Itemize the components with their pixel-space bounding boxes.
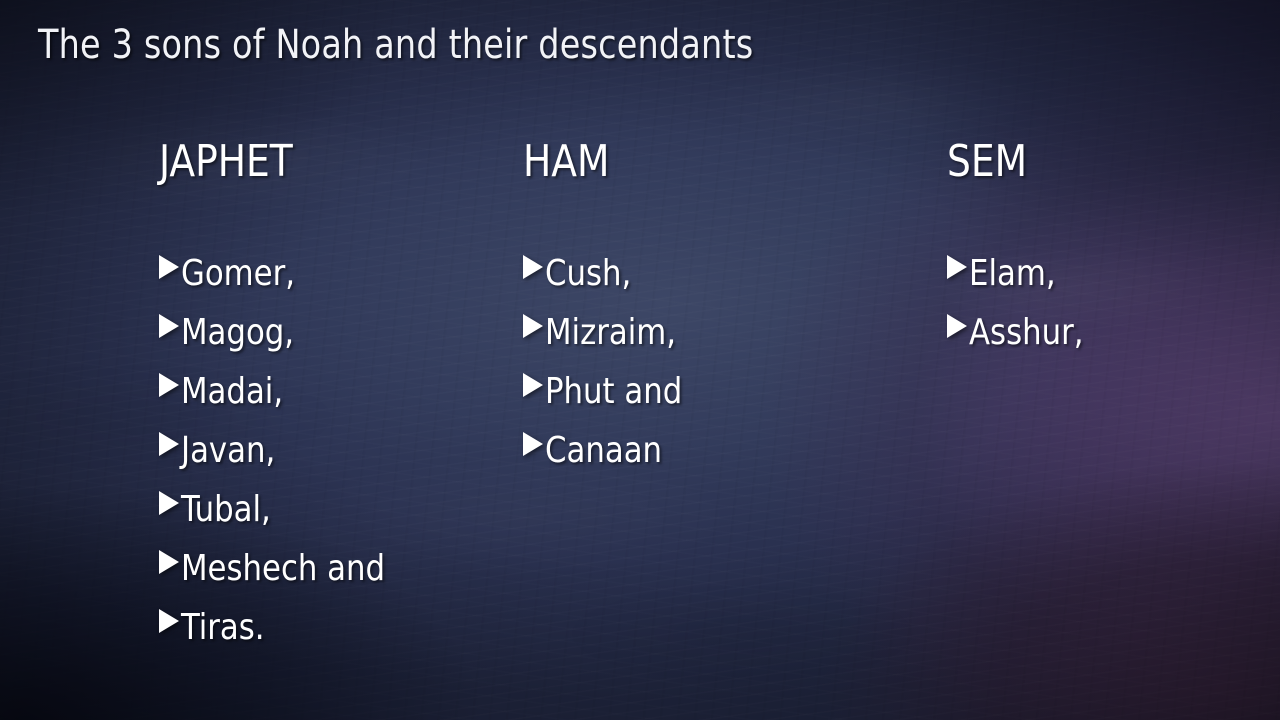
bullet-list-ham: Cush, Mizraim, Phut and Canaan — [523, 244, 690, 480]
triangle-right-icon — [523, 373, 543, 397]
triangle-right-icon — [947, 255, 967, 279]
triangle-right-icon — [159, 432, 179, 456]
list-item: Madai, — [159, 362, 396, 421]
column-ham: HAM Cush, Mizraim, Phut and Canaan — [523, 136, 690, 480]
list-item: Asshur, — [947, 303, 1090, 362]
list-item-label: Meshech and — [181, 539, 385, 598]
triangle-right-icon — [523, 432, 543, 456]
triangle-right-icon — [159, 255, 179, 279]
list-item-label: Magog, — [181, 303, 294, 362]
triangle-right-icon — [523, 255, 543, 279]
list-item-label: Canaan — [545, 421, 662, 480]
column-heading-sem: SEM — [947, 136, 1082, 188]
list-item-label: Elam, — [969, 244, 1056, 303]
column-japhet: JAPHET Gomer, Magog, Madai, Javan, — [159, 136, 396, 657]
list-item: Meshech and — [159, 539, 396, 598]
triangle-right-icon — [159, 491, 179, 515]
triangle-right-icon — [523, 314, 543, 338]
list-item: Gomer, — [159, 244, 396, 303]
content-columns: JAPHET Gomer, Magog, Madai, Javan, — [0, 0, 1280, 720]
column-sem: SEM Elam, Asshur, — [947, 136, 1090, 362]
list-item-label: Mizraim, — [545, 303, 676, 362]
list-item: Magog, — [159, 303, 396, 362]
presentation-slide: The 3 sons of Noah and their descendants… — [0, 0, 1280, 720]
list-item-label: Cush, — [545, 244, 631, 303]
bullet-list-sem: Elam, Asshur, — [947, 244, 1090, 362]
list-item-label: Tubal, — [181, 480, 271, 539]
triangle-right-icon — [159, 609, 179, 633]
triangle-right-icon — [947, 314, 967, 338]
list-item: Phut and — [523, 362, 690, 421]
list-item-label: Tiras. — [181, 598, 265, 657]
triangle-right-icon — [159, 373, 179, 397]
list-item-label: Javan, — [181, 421, 275, 480]
list-item-label: Phut and — [545, 362, 682, 421]
bullet-list-japhet: Gomer, Magog, Madai, Javan, Tubal, — [159, 244, 396, 657]
list-item: Tubal, — [159, 480, 396, 539]
list-item: Javan, — [159, 421, 396, 480]
triangle-right-icon — [159, 550, 179, 574]
column-heading-ham: HAM — [523, 136, 681, 188]
list-item-label: Madai, — [181, 362, 283, 421]
column-heading-japhet: JAPHET — [159, 136, 384, 188]
list-item-label: Gomer, — [181, 244, 295, 303]
list-item: Tiras. — [159, 598, 396, 657]
list-item: Cush, — [523, 244, 690, 303]
list-item: Mizraim, — [523, 303, 690, 362]
list-item: Elam, — [947, 244, 1090, 303]
list-item: Canaan — [523, 421, 690, 480]
triangle-right-icon — [159, 314, 179, 338]
list-item-label: Asshur, — [969, 303, 1084, 362]
